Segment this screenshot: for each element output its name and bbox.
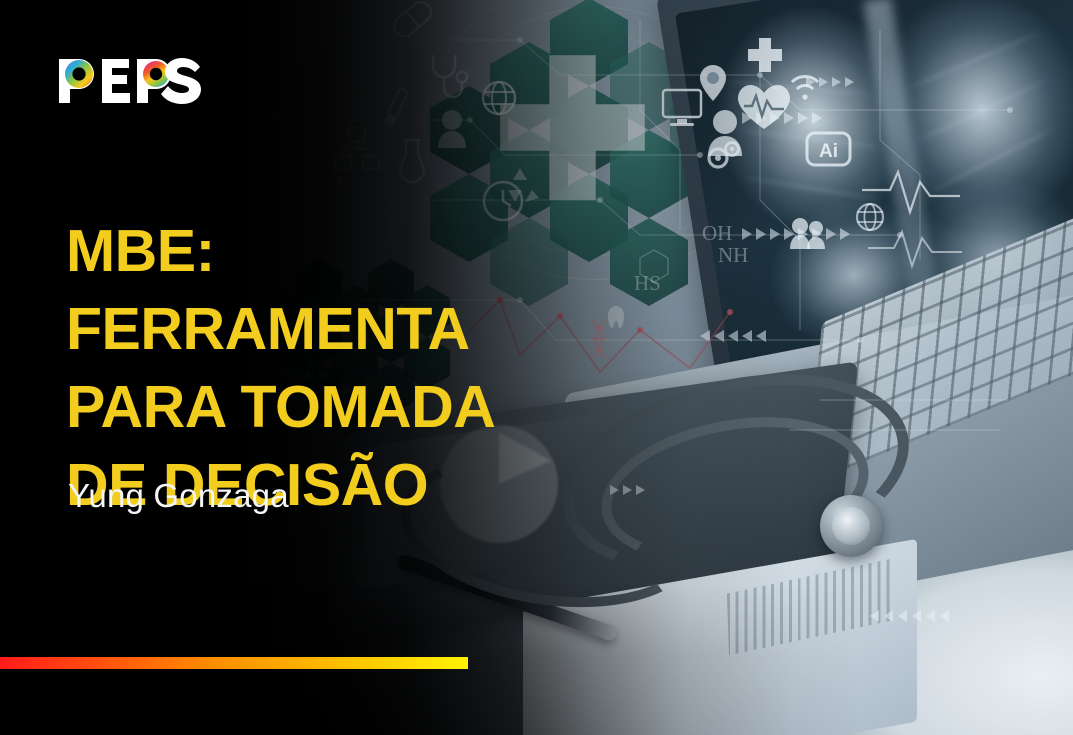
slide-content: MBE: FERRAMENTA PARA TOMADA DE DECISÃO Y…	[0, 0, 1073, 735]
peps-logo-mark	[57, 55, 205, 107]
logo-letter-P	[59, 59, 94, 103]
peps-logo[interactable]	[57, 55, 205, 107]
gradient-accent-bar	[0, 657, 468, 669]
logo-letter-E	[102, 59, 130, 103]
title-slide: Ai	[0, 0, 1073, 735]
presenter-name: Yung Gonzaga	[68, 477, 289, 515]
